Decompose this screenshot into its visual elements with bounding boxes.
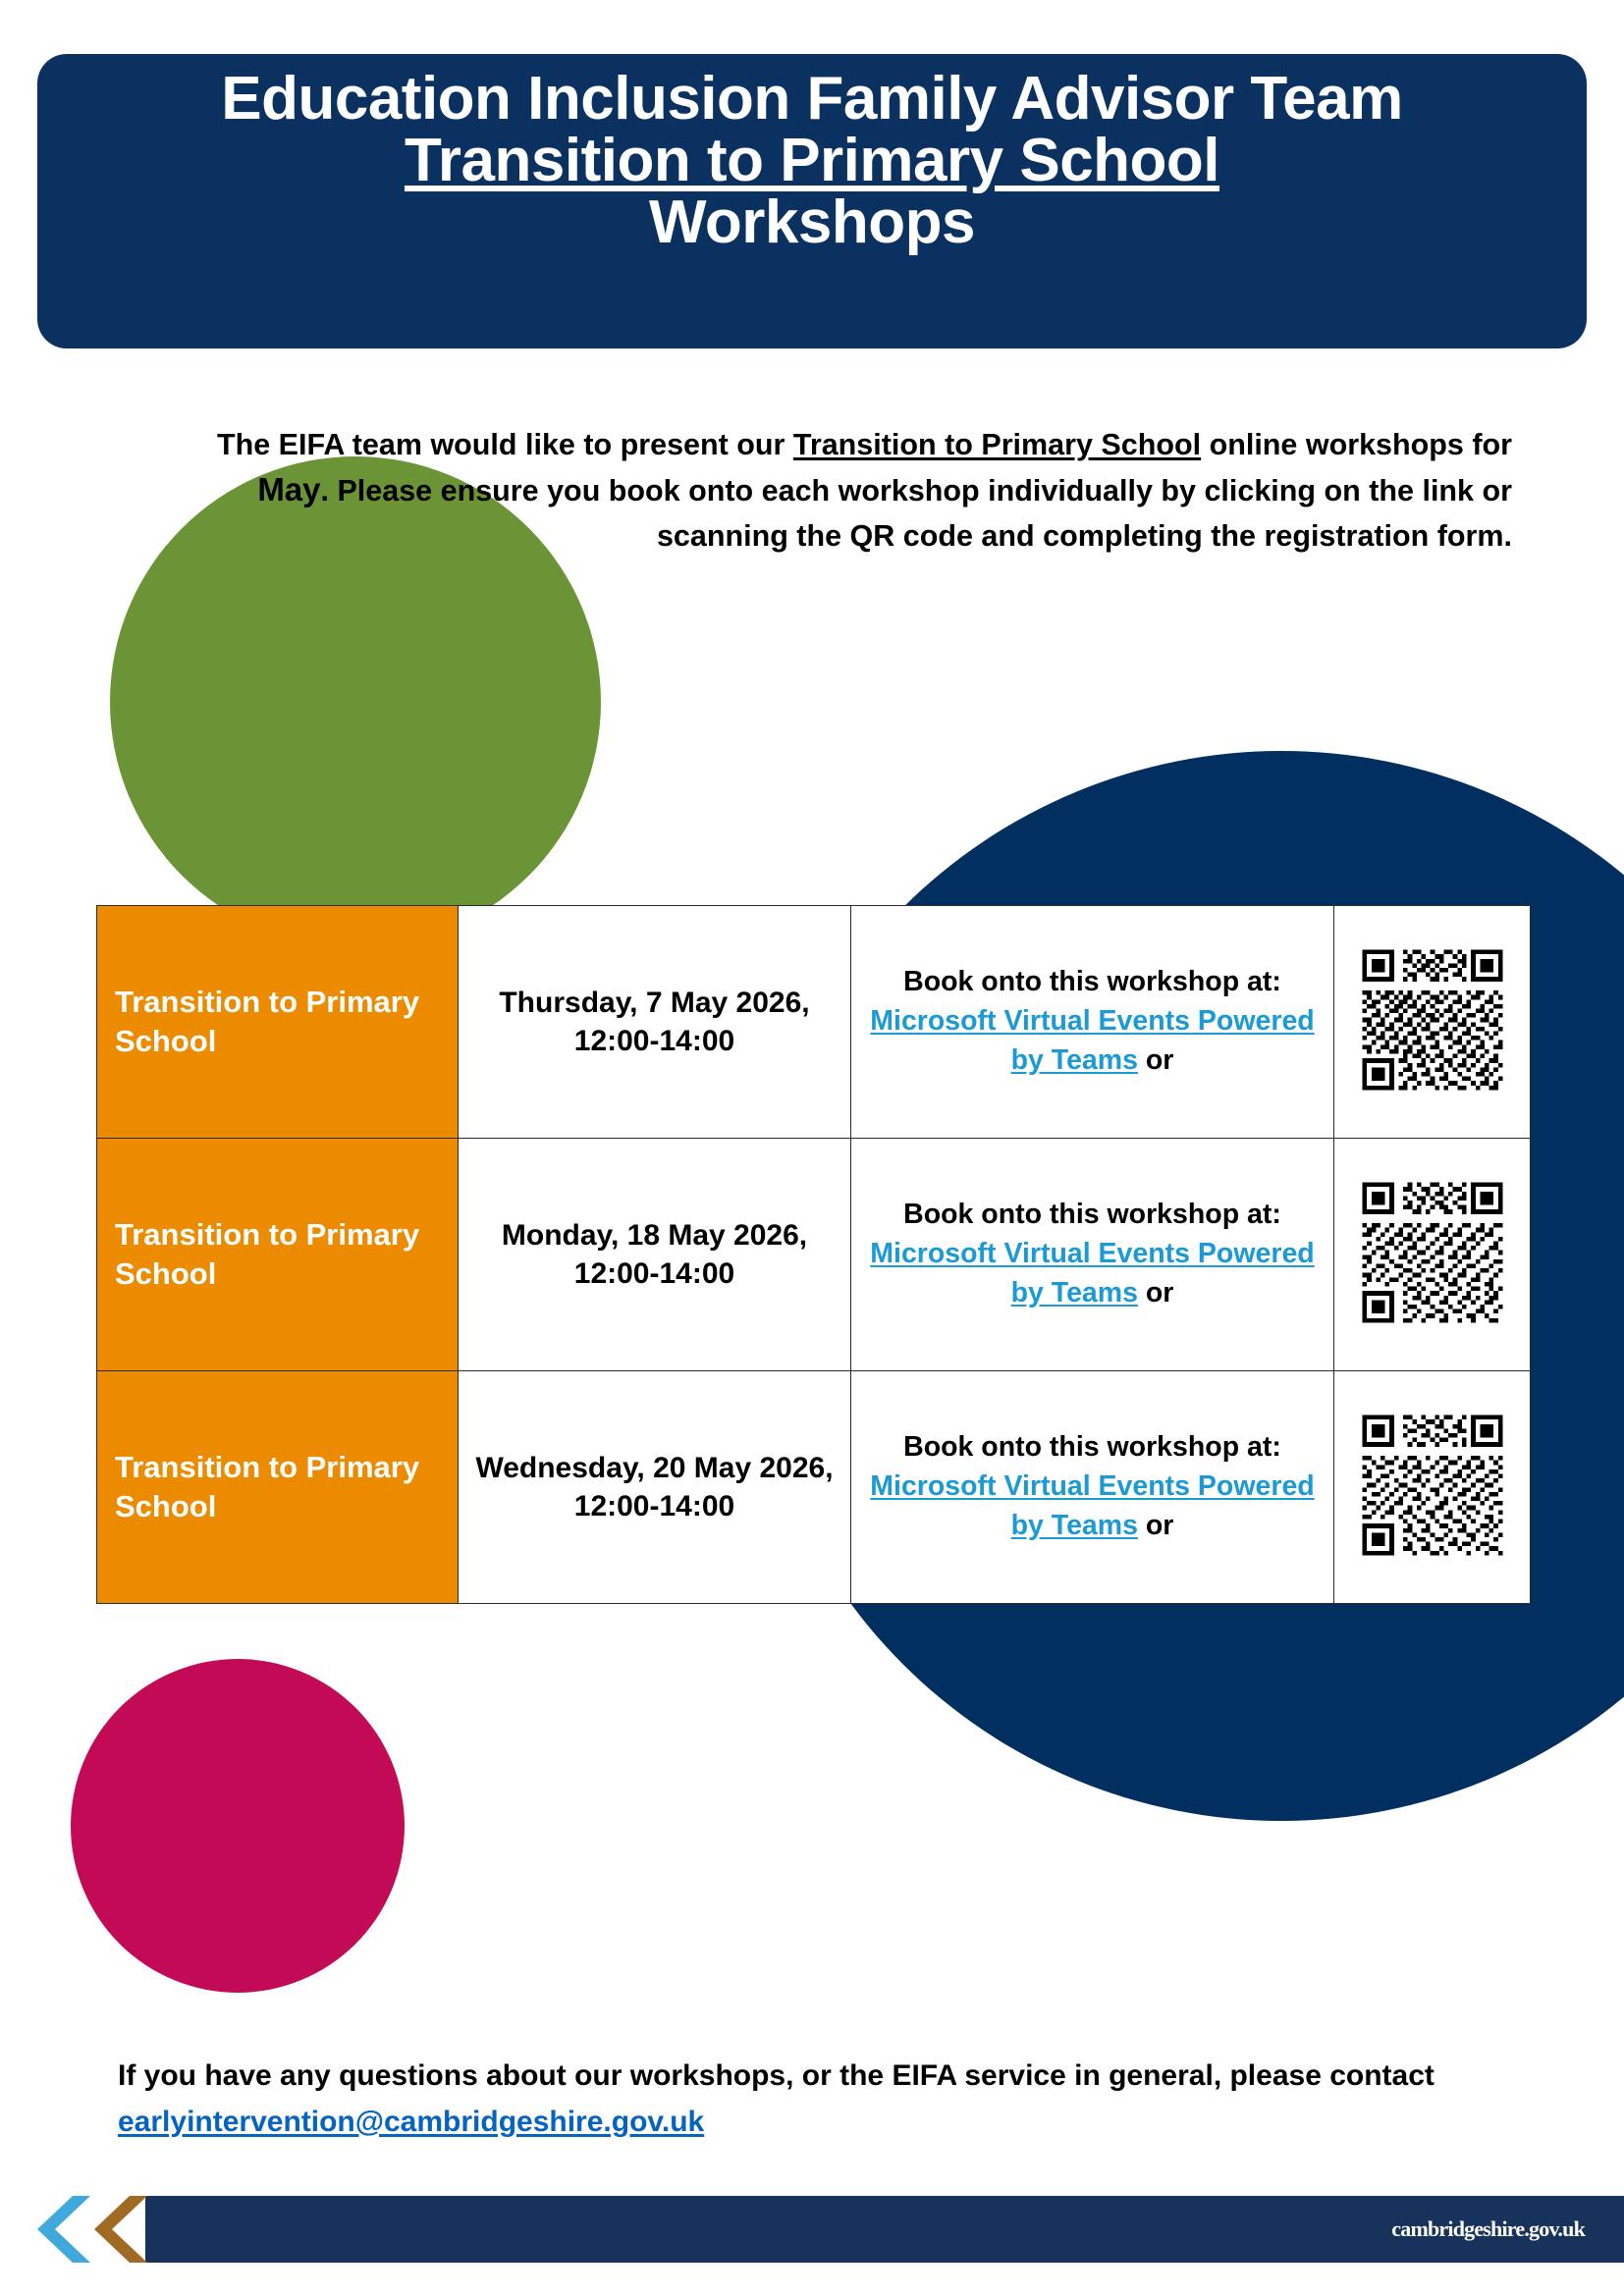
table-row: Transition to Primary School Wednesday, …	[97, 1371, 1531, 1604]
bottom-bar-band: cambridgeshire.gov.uk	[145, 2196, 1624, 2263]
qr-code-icon[interactable]	[1358, 945, 1507, 1095]
workshop-title: Transition to Primary School	[97, 1215, 458, 1295]
workshop-qr-cell	[1334, 1371, 1531, 1604]
workshop-date-cell: Thursday, 7 May 2026, 12:00-14:00	[459, 906, 851, 1139]
contact-email-link[interactable]: earlyintervention@cambridgeshire.gov.uk	[118, 2106, 704, 2138]
table-row: Transition to Primary School Thursday, 7…	[97, 906, 1531, 1139]
intro-text-part-1: The EIFA team would like to present our	[217, 428, 793, 461]
workshop-qr-cell	[1334, 1139, 1531, 1371]
workshop-qr-cell	[1334, 906, 1531, 1139]
booking-text: Book onto this workshop at: Microsoft Vi…	[851, 1196, 1333, 1313]
intro-paragraph: The EIFA team would like to present our …	[177, 423, 1512, 559]
intro-text-part-3: . Please ensure you book onto each works…	[321, 474, 1512, 553]
intro-emphasis: Transition to Primary School	[793, 428, 1201, 461]
header-title-line-1: Education Inclusion Family Advisor Team	[73, 68, 1551, 130]
table-row: Transition to Primary School Monday, 18 …	[97, 1139, 1531, 1371]
booking-suffix: or	[1138, 1044, 1173, 1076]
booking-suffix: or	[1138, 1510, 1173, 1541]
booking-suffix: or	[1138, 1277, 1173, 1308]
workshop-booking-cell: Book onto this workshop at: Microsoft Vi…	[851, 1139, 1334, 1371]
bottom-bar: cambridgeshire.gov.uk	[0, 2190, 1624, 2269]
chevron-brown-icon	[79, 2196, 147, 2263]
booking-link[interactable]: Microsoft Virtual Events Powered by Team…	[870, 1005, 1314, 1076]
workshop-title-cell: Transition to Primary School	[97, 1139, 459, 1371]
header-banner: Education Inclusion Family Advisor Team …	[37, 54, 1587, 348]
intro-month: May	[257, 471, 320, 507]
workshop-title-cell: Transition to Primary School	[97, 1371, 459, 1604]
workshop-date: Thursday, 7 May 2026, 12:00-14:00	[459, 984, 850, 1060]
workshop-schedule-table: Transition to Primary School Thursday, 7…	[96, 905, 1531, 1604]
workshop-date: Monday, 18 May 2026, 12:00-14:00	[459, 1216, 850, 1293]
intro-text-part-2: online workshops for	[1201, 428, 1512, 461]
qr-code-icon[interactable]	[1358, 1411, 1507, 1560]
decorative-circle-pink	[71, 1659, 405, 1993]
qr-code-icon[interactable]	[1358, 1178, 1507, 1327]
booking-link[interactable]: Microsoft Virtual Events Powered by Team…	[870, 1238, 1314, 1308]
booking-prefix: Book onto this workshop at:	[903, 966, 1281, 997]
header-title-line-3: Workshops	[73, 191, 1551, 253]
workshop-title-cell: Transition to Primary School	[97, 906, 459, 1139]
workshop-booking-cell: Book onto this workshop at: Microsoft Vi…	[851, 1371, 1334, 1604]
booking-text: Book onto this workshop at: Microsoft Vi…	[851, 963, 1333, 1081]
workshop-date-cell: Wednesday, 20 May 2026, 12:00-14:00	[459, 1371, 851, 1604]
booking-text: Book onto this workshop at: Microsoft Vi…	[851, 1428, 1333, 1546]
header-title-line-2: Transition to Primary School	[73, 130, 1551, 191]
booking-prefix: Book onto this workshop at:	[903, 1199, 1281, 1230]
workshop-title: Transition to Primary School	[97, 983, 458, 1062]
booking-prefix: Book onto this workshop at:	[903, 1431, 1281, 1463]
footer-contact-text: If you have any questions about our work…	[118, 2054, 1512, 2145]
council-website-url: cambridgeshire.gov.uk	[1391, 2216, 1585, 2242]
workshop-title: Transition to Primary School	[97, 1448, 458, 1527]
workshop-date: Wednesday, 20 May 2026, 12:00-14:00	[459, 1449, 850, 1525]
booking-link[interactable]: Microsoft Virtual Events Powered by Team…	[870, 1470, 1314, 1541]
workshop-date-cell: Monday, 18 May 2026, 12:00-14:00	[459, 1139, 851, 1371]
footer-text-before: If you have any questions about our work…	[118, 2059, 1435, 2092]
workshop-booking-cell: Book onto this workshop at: Microsoft Vi…	[851, 906, 1334, 1139]
